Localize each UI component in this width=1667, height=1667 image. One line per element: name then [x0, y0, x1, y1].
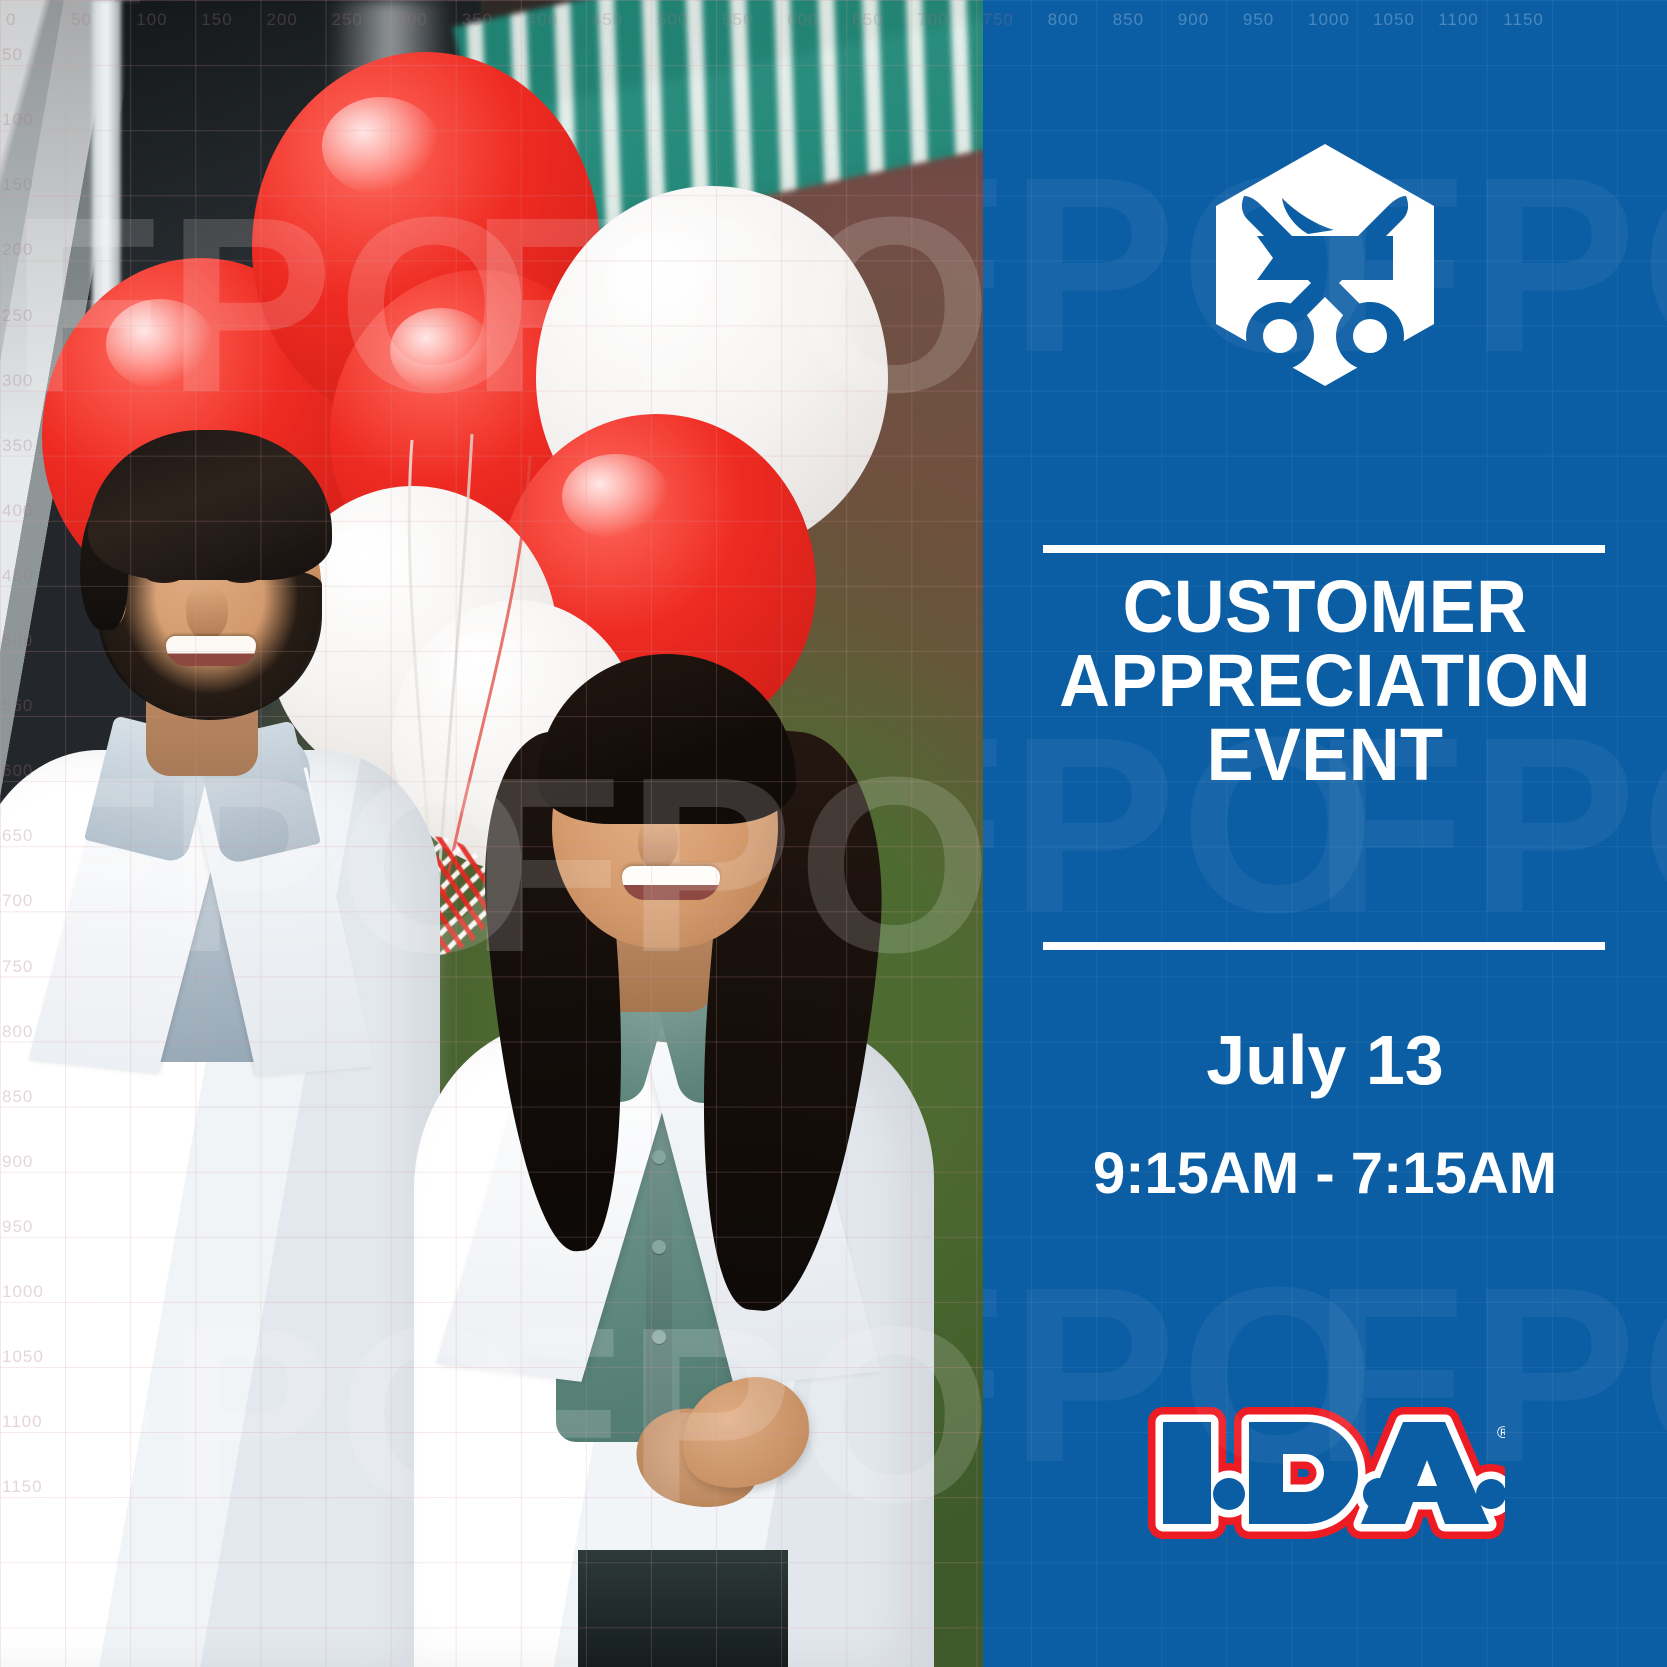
- pharmacist-male: [0, 420, 440, 1667]
- ida-logo-mark: ®: [1145, 1398, 1505, 1548]
- nose: [638, 818, 678, 870]
- info-panel: FPO FPO FPO FPO FPO FPO: [983, 0, 1667, 1667]
- event-photo: [0, 0, 983, 1667]
- ida-logo: ®: [1145, 1398, 1505, 1553]
- svg-text:®: ®: [1497, 1423, 1505, 1442]
- event-time: 9:15AM - 7:15AM: [983, 1140, 1667, 1207]
- headline: CUSTOMER APPRECIATION EVENT: [1000, 570, 1650, 792]
- headline-line-2: APPRECIATION: [1000, 644, 1650, 718]
- event-date: July 13: [983, 1020, 1667, 1100]
- hair-top: [538, 654, 796, 824]
- blouse-button: [652, 1330, 666, 1344]
- divider-rule-top: [1043, 545, 1605, 553]
- pharmacist-female: [388, 620, 948, 1667]
- smile: [622, 866, 720, 900]
- ribbon-cutting-icon: [1210, 140, 1440, 390]
- divider-rule-bottom: [1043, 942, 1605, 950]
- scissors-ribbon-badge: [1210, 140, 1440, 395]
- blouse-button: [652, 1240, 666, 1254]
- blouse-button: [652, 1150, 666, 1164]
- trousers: [578, 1550, 788, 1667]
- promotional-poster: FPO FPO FPO FPO FPO FPO: [0, 0, 1667, 1667]
- smile: [166, 636, 256, 666]
- hair: [88, 430, 332, 580]
- headline-line-1: CUSTOMER: [1000, 570, 1650, 644]
- headline-line-3: EVENT: [1000, 718, 1650, 792]
- nose: [186, 586, 228, 640]
